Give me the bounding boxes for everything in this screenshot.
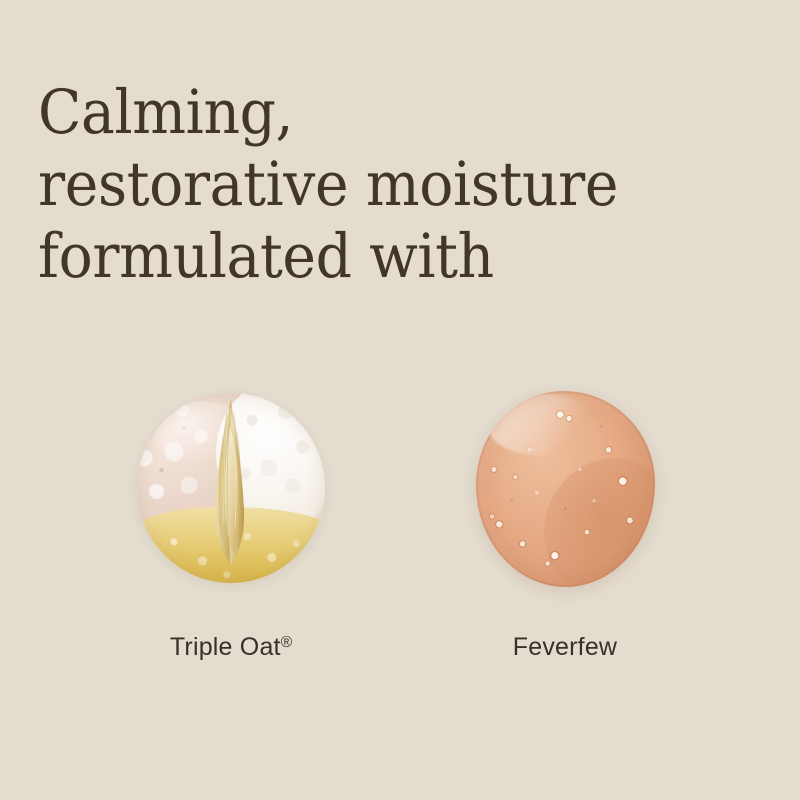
triple-oat-swatch-wrapper xyxy=(131,385,331,585)
ingredient-label-triple-oat: Triple Oat® xyxy=(91,633,371,662)
ingredient-label-feverfew: Feverfew xyxy=(425,633,705,662)
ingredient-name-text: Triple Oat xyxy=(170,633,281,661)
feverfew-swatch-wrapper xyxy=(465,385,665,585)
page-title: Calming, restorative moisture formulated… xyxy=(38,77,689,293)
ingredient-list: Triple Oat® Feverfew xyxy=(0,385,800,675)
feverfew-gloss-highlight xyxy=(487,393,598,456)
triple-oat-swatch-icon xyxy=(137,393,325,583)
ingredient-item-feverfew: Feverfew xyxy=(425,385,705,675)
ingredient-item-triple-oat: Triple Oat® xyxy=(91,385,371,675)
ingredient-name-text: Feverfew xyxy=(513,633,617,661)
oat-grain-icon xyxy=(201,397,259,577)
product-ingredient-panel: Calming, restorative moisture formulated… xyxy=(0,0,800,800)
feverfew-swatch-icon xyxy=(476,391,655,587)
registered-trademark-icon: ® xyxy=(281,634,292,651)
